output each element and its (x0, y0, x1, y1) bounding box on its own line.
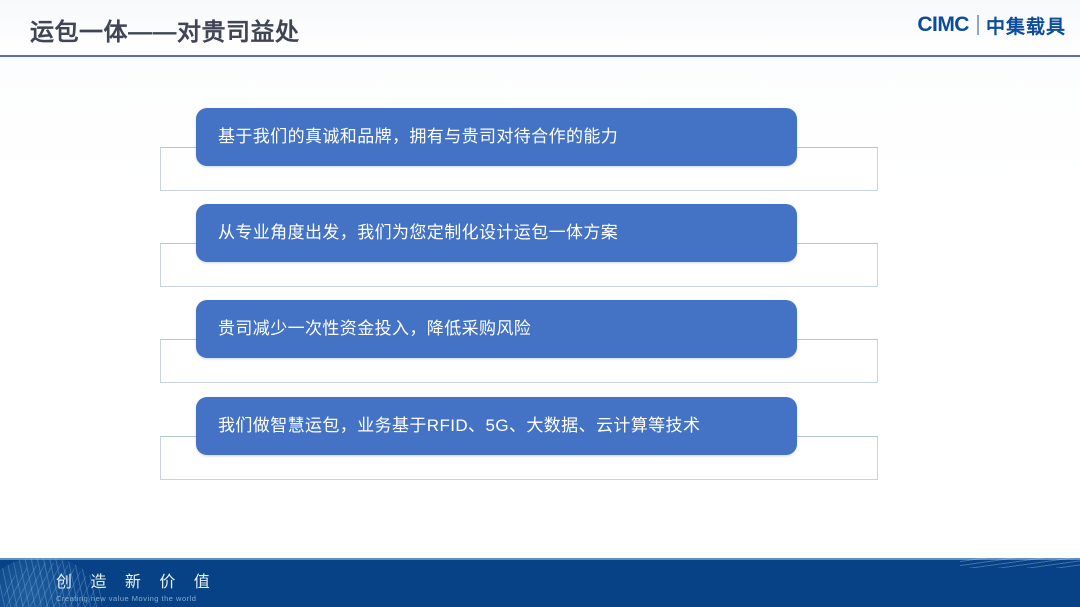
benefit-callout-2[interactable]: 从专业角度出发，我们为您定制化设计运包一体方案 (196, 204, 797, 262)
footer-top-highlight (0, 558, 1080, 560)
slide-canvas: 运包一体——对贵司益处 CIMC 中集载具 基于我们的真诚和品牌，拥有与贵司对待… (0, 0, 1080, 607)
slide-footer: 创 造 新 价 值 Creating new value Moving the … (0, 558, 1080, 607)
benefit-text-1: 基于我们的真诚和品牌，拥有与贵司对待合作的能力 (218, 127, 618, 147)
benefit-callout-1[interactable]: 基于我们的真诚和品牌，拥有与贵司对待合作的能力 (196, 108, 797, 166)
footer-slogan: 创 造 新 价 值 Creating new value Moving the … (56, 568, 217, 603)
benefit-row-3: 贵司减少一次性资金投入，降低采购风险 (160, 294, 880, 390)
benefit-text-3: 贵司减少一次性资金投入，降低采购风险 (218, 319, 531, 339)
benefit-row-1: 基于我们的真诚和品牌，拥有与贵司对待合作的能力 (160, 102, 880, 198)
footer-slogan-chinese: 创 造 新 价 值 (56, 568, 217, 592)
footer-slogan-english: Creating new value Moving the world (56, 594, 217, 603)
benefit-row-4: 我们做智慧运包，业务基于RFID、5G、大数据、云计算等技术 (160, 391, 880, 487)
benefit-row-2: 从专业角度出发，我们为您定制化设计运包一体方案 (160, 198, 880, 294)
benefit-callout-3[interactable]: 贵司减少一次性资金投入，降低采购风险 (196, 300, 797, 358)
benefit-text-4: 我们做智慧运包，业务基于RFID、5G、大数据、云计算等技术 (218, 416, 700, 436)
wave-graphic (960, 558, 1080, 568)
benefit-text-2: 从专业角度出发，我们为您定制化设计运包一体方案 (218, 223, 618, 243)
benefits-list: 基于我们的真诚和品牌，拥有与贵司对待合作的能力 从专业角度出发，我们为您定制化设… (0, 0, 1080, 607)
benefit-callout-4[interactable]: 我们做智慧运包，业务基于RFID、5G、大数据、云计算等技术 (196, 397, 797, 455)
